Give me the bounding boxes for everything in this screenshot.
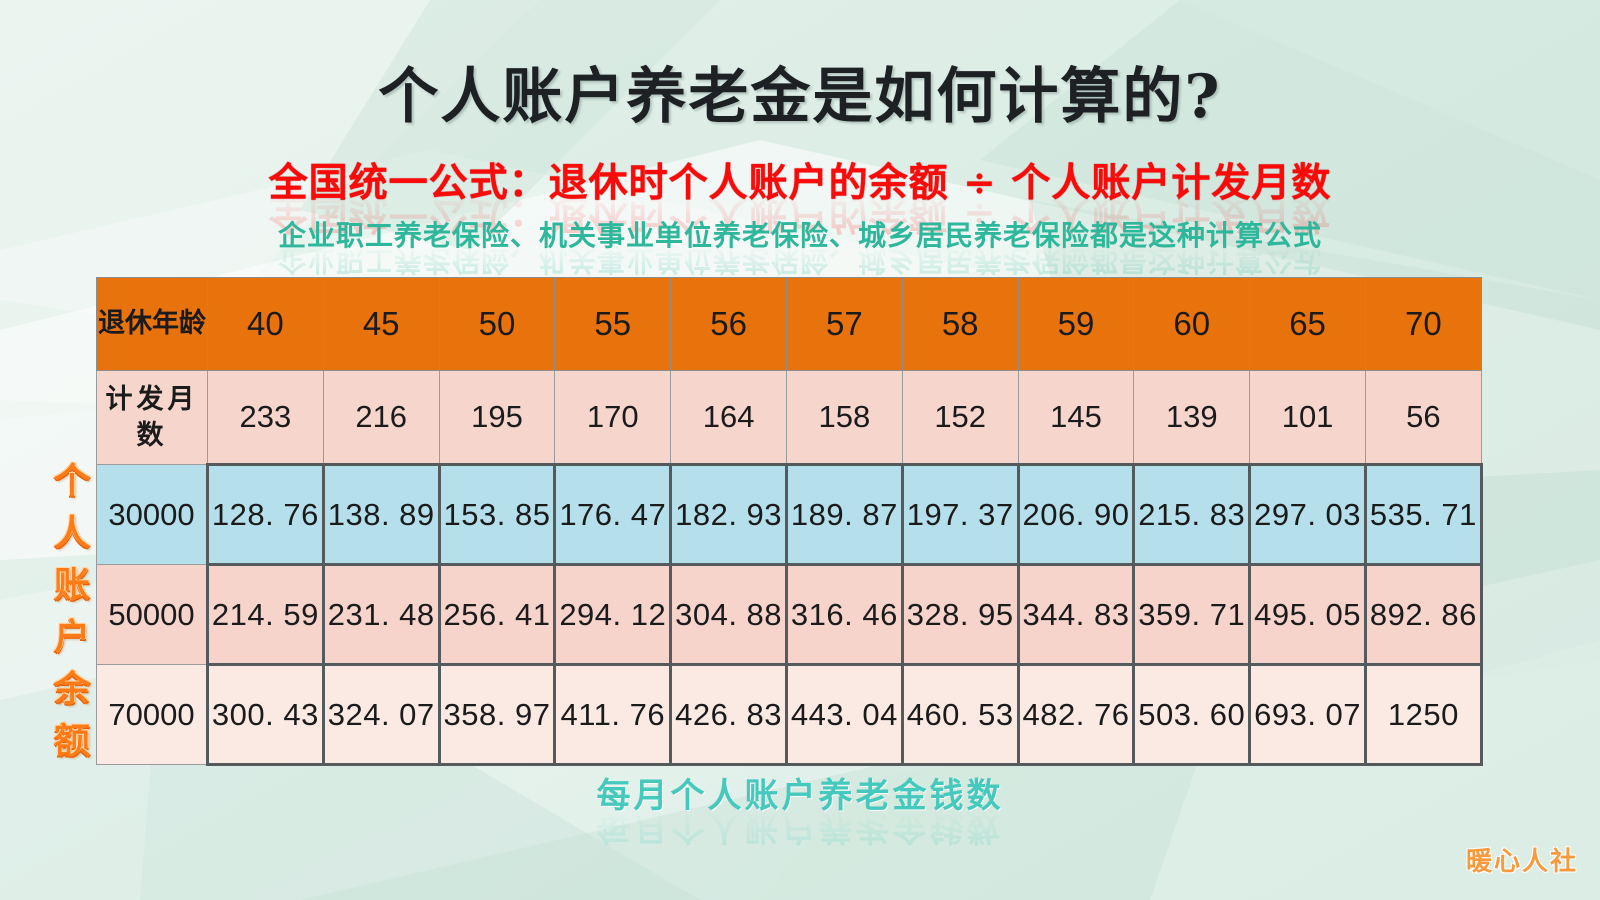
months-cell: 195	[439, 371, 555, 465]
table-row-balance-50000: 50000 214. 59 231. 48 256. 41 294. 12 30…	[97, 565, 1482, 665]
months-cell: 152	[902, 371, 1018, 465]
pension-cell: 495. 05	[1250, 565, 1366, 665]
age-cell: 40	[208, 278, 324, 371]
pension-cell: 197. 37	[902, 465, 1018, 565]
age-cell: 60	[1134, 278, 1250, 371]
pension-cell: 324. 07	[323, 665, 439, 765]
vertical-label-char: 个	[44, 455, 100, 507]
pension-cell: 294. 12	[555, 565, 671, 665]
months-cell: 233	[208, 371, 324, 465]
balance-label: 30000	[97, 465, 208, 565]
pension-cell: 300. 43	[208, 665, 324, 765]
formula-text: 全国统一公式：退休时个人账户的余额 ÷ 个人账户计发月数	[269, 152, 1332, 208]
pension-cell: 503. 60	[1134, 665, 1250, 765]
months-cell: 139	[1134, 371, 1250, 465]
age-cell: 58	[902, 278, 1018, 371]
header-retirement-age: 退休年龄	[97, 278, 208, 371]
pension-cell: 297. 03	[1250, 465, 1366, 565]
months-cell: 56	[1365, 371, 1481, 465]
table-row-balance-70000: 70000 300. 43 324. 07 358. 97 411. 76 42…	[97, 665, 1482, 765]
pension-cell: 482. 76	[1018, 665, 1134, 765]
age-cell: 55	[555, 278, 671, 371]
header-months: 计发月数	[97, 371, 208, 465]
months-cell: 145	[1018, 371, 1134, 465]
pension-cell: 1250	[1365, 665, 1481, 765]
table-row-months: 计发月数 233 216 195 170 164 158 152 145 139…	[97, 371, 1482, 465]
pension-cell: 231. 48	[323, 565, 439, 665]
age-cell: 65	[1250, 278, 1366, 371]
pension-cell: 206. 90	[1018, 465, 1134, 565]
vertical-axis-label: 个 人 账 户 余 额	[44, 455, 100, 767]
pension-cell: 304. 88	[671, 565, 787, 665]
months-cell: 164	[671, 371, 787, 465]
vertical-label-char: 余	[44, 663, 100, 715]
pension-cell: 215. 83	[1134, 465, 1250, 565]
pension-cell: 189. 87	[786, 465, 902, 565]
table-row-balance-30000: 30000 128. 76 138. 89 153. 85 176. 47 18…	[97, 465, 1482, 565]
vertical-label-char: 账	[44, 559, 100, 611]
pension-cell: 892. 86	[1365, 565, 1481, 665]
watermark-logo: 暖心人社	[1466, 841, 1578, 878]
pension-cell: 328. 95	[902, 565, 1018, 665]
pension-cell: 316. 46	[786, 565, 902, 665]
age-cell: 70	[1365, 278, 1481, 371]
pension-cell: 344. 83	[1018, 565, 1134, 665]
age-cell: 57	[786, 278, 902, 371]
pension-cell: 460. 53	[902, 665, 1018, 765]
pension-cell: 128. 76	[208, 465, 324, 565]
age-cell: 56	[671, 278, 787, 371]
page-title: 个人账户养老金是如何计算的?	[0, 48, 1600, 135]
pension-cell: 411. 76	[555, 665, 671, 765]
pension-cell: 214. 59	[208, 565, 324, 665]
months-cell: 158	[786, 371, 902, 465]
pension-cell: 358. 97	[439, 665, 555, 765]
vertical-label-char: 户	[44, 611, 100, 663]
vertical-label-char: 人	[44, 507, 100, 559]
table-row-retirement-age: 退休年龄 40 45 50 55 56 57 58 59 60 65 70	[97, 278, 1482, 371]
pension-cell: 256. 41	[439, 565, 555, 665]
pension-cell: 176. 47	[555, 465, 671, 565]
pension-table: 退休年龄 40 45 50 55 56 57 58 59 60 65 70 计发…	[96, 277, 1483, 766]
pension-cell: 153. 85	[439, 465, 555, 565]
subtitle-line: 企业职工养老保险、机关事业单位养老保险、城乡居民养老保险都是这种计算公式	[0, 214, 1600, 254]
pension-cell: 535. 71	[1365, 465, 1481, 565]
pension-cell: 693. 07	[1250, 665, 1366, 765]
age-cell: 59	[1018, 278, 1134, 371]
pension-cell: 443. 04	[786, 665, 902, 765]
balance-label: 70000	[97, 665, 208, 765]
subtitle-text: 企业职工养老保险、机关事业单位养老保险、城乡居民养老保险都是这种计算公式	[278, 214, 1322, 254]
age-cell: 50	[439, 278, 555, 371]
age-cell: 45	[323, 278, 439, 371]
months-cell: 101	[1250, 371, 1366, 465]
bottom-caption-text: 每月个人账户养老金钱数	[597, 768, 1004, 817]
pension-cell: 138. 89	[323, 465, 439, 565]
months-cell: 216	[323, 371, 439, 465]
bottom-caption: 每月个人账户养老金钱数	[0, 768, 1600, 817]
pension-cell: 426. 83	[671, 665, 787, 765]
vertical-label-char: 额	[44, 715, 100, 767]
formula-line: 全国统一公式：退休时个人账户的余额 ÷ 个人账户计发月数	[0, 152, 1600, 208]
months-cell: 170	[555, 371, 671, 465]
balance-label: 50000	[97, 565, 208, 665]
pension-cell: 182. 93	[671, 465, 787, 565]
pension-cell: 359. 71	[1134, 565, 1250, 665]
